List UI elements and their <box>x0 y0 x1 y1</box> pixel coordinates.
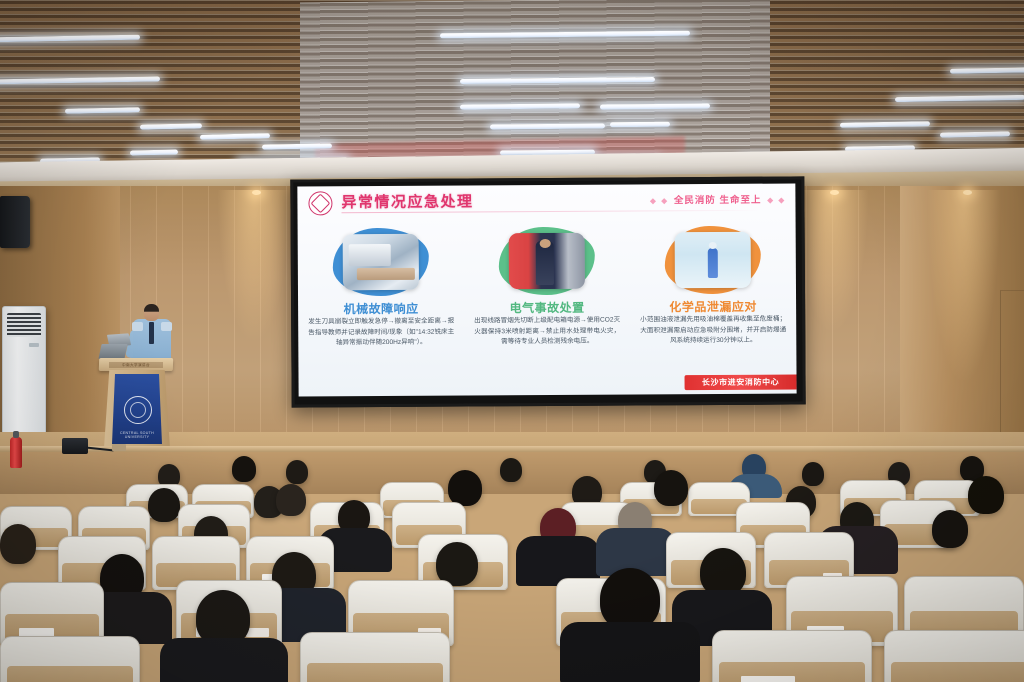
slide-title: 异常情况应急处理 <box>341 190 473 212</box>
audience-head <box>968 476 1004 514</box>
audience-head <box>500 458 522 482</box>
ac-display-panel <box>29 343 39 347</box>
diamond-icon: ◆ <box>650 196 657 205</box>
ceiling-lamp <box>840 121 930 128</box>
seat[interactable] <box>0 636 140 682</box>
presenter-epaulette-left <box>132 322 143 331</box>
presenter-epaulette-right <box>161 322 172 331</box>
side-door[interactable] <box>1000 290 1024 441</box>
lectern-front-panel: CENTRAL SOUTH UNIVERSITY <box>112 374 162 444</box>
audience-head <box>276 484 306 516</box>
card-body: 小范围油液泄漏先用吸油棉覆盖再收集至危废桶；大面积泄漏需启动应急吸附分围堵，并开… <box>640 315 786 348</box>
audience-head <box>232 456 256 482</box>
ceiling-lamp <box>200 133 270 140</box>
ceiling-lamp <box>140 123 202 129</box>
diamond-icon: ◆ <box>778 196 785 205</box>
card-title: 机械故障响应 <box>298 300 464 318</box>
projection-screen: 异常情况应急处理 ◆◆ 全民消防 生命至上 ◆◆ 机械故障响应 发生刀具崩裂立即… <box>290 176 805 407</box>
slide-cards: 机械故障响应 发生刀具崩裂立即触发急停→撤离至安全距离→报告指导教师并记录故障时… <box>298 219 797 372</box>
audience-head <box>802 462 824 486</box>
milling-machine-photo <box>343 234 419 290</box>
card-body: 发生刀具崩裂立即触发急停→撤离至安全距离→报告指导教师并记录故障时间/现象（如"… <box>308 317 454 350</box>
seat-wood-panel <box>891 662 1024 682</box>
slogan-text: 全民消防 生命至上 <box>674 195 762 207</box>
slatted-wood-ceiling <box>0 0 1024 190</box>
audience-head <box>600 568 660 630</box>
audience-head <box>654 470 688 506</box>
auditorium-scene: 异常情况应急处理 ◆◆ 全民消防 生命至上 ◆◆ 机械故障响应 发生刀具崩裂立即… <box>0 0 1024 682</box>
audience-head <box>148 488 180 522</box>
audience-head <box>286 460 308 484</box>
presenter-head <box>144 304 159 321</box>
audience-head <box>0 524 36 564</box>
audience-head <box>448 470 482 506</box>
audience-body <box>160 638 288 682</box>
university-crest-icon <box>124 396 152 424</box>
slide-card-electrical: 电气事故处置 出现线路冒烟先切断上级配电箱电源→使用CO2灭火器保持3米喷射距离… <box>464 221 631 372</box>
organization-badge: 长沙市进安消防中心 <box>685 374 797 390</box>
ceiling-lamp <box>0 76 160 84</box>
seat[interactable] <box>712 630 872 682</box>
ceiling-lamp <box>130 149 178 155</box>
ceiling-lamp <box>895 95 1024 102</box>
audience-body <box>560 622 700 682</box>
lectern-subtitle: CENTRAL SOUTH UNIVERSITY <box>112 431 162 439</box>
ceiling-lamp <box>950 67 1024 73</box>
seat-wood-panel <box>307 663 443 682</box>
institution-seal-icon <box>308 191 332 215</box>
seat[interactable] <box>884 630 1024 682</box>
wall-downlight <box>252 190 261 195</box>
seat-label <box>246 628 269 637</box>
diamond-icon: ◆ <box>661 196 668 205</box>
chemical-cleanroom-photo <box>675 232 751 288</box>
presenter-laptop <box>98 344 127 359</box>
floor-standing-air-conditioner <box>2 306 46 438</box>
presentation-slide: 异常情况应急处理 ◆◆ 全民消防 生命至上 ◆◆ 机械故障响应 发生刀具崩裂立即… <box>297 183 796 396</box>
ceiling-lamp <box>0 35 140 43</box>
card-body: 出现线路冒烟先切断上级配电箱电源→使用CO2灭火器保持3米喷射距离→禁止用水处理… <box>474 316 620 349</box>
card-title: 化学品泄漏应对 <box>630 297 796 315</box>
audience-head <box>932 510 968 548</box>
audience-seating <box>0 440 1024 682</box>
audience-head <box>700 548 746 596</box>
seat[interactable] <box>300 632 450 682</box>
wall-speaker <box>0 196 30 248</box>
slide-card-mechanical: 机械故障响应 发生刀具崩裂立即触发急停→撤离至安全距离→报告指导教师并记录故障时… <box>298 222 465 373</box>
wall-downlight <box>963 190 972 195</box>
seat-wood-panel <box>7 666 134 682</box>
card-title: 电气事故处置 <box>464 298 630 316</box>
lectern-nameplate: 中南大学演讲台 <box>109 362 163 368</box>
ceiling-lamp <box>940 131 1010 137</box>
ceiling-lamp <box>610 122 670 128</box>
slide-slogan: ◆◆ 全民消防 生命至上 ◆◆ <box>648 192 788 207</box>
ceiling-lamp <box>65 107 140 114</box>
slide-card-chemical: 化学品泄漏应对 小范围油液泄漏先用吸油棉覆盖再收集至危废桶；大面积泄漏需启动应急… <box>630 219 797 370</box>
ceiling-lamp <box>490 123 605 129</box>
wall-downlight <box>830 190 839 195</box>
electrical-worker-photo <box>509 233 585 289</box>
ac-grille-icon <box>7 313 41 337</box>
presenter-tie <box>149 322 154 344</box>
diamond-icon: ◆ <box>767 196 774 205</box>
slide-header: 异常情况应急处理 ◆◆ 全民消防 生命至上 ◆◆ <box>297 183 795 218</box>
seat-label <box>741 676 795 682</box>
